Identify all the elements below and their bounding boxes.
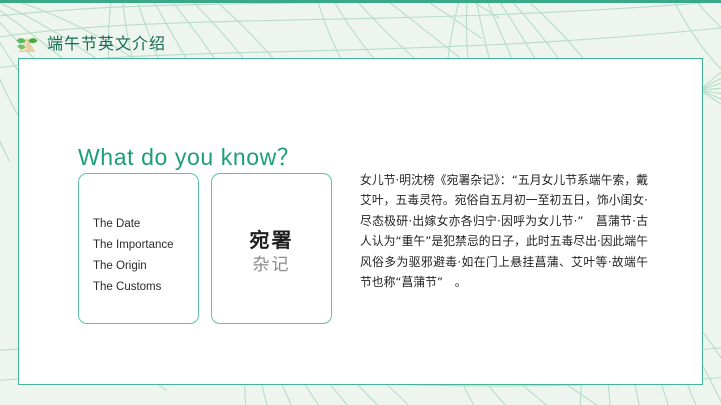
page-title: What do you know？ <box>78 138 300 172</box>
book-subtitle: 杂记 <box>212 253 331 277</box>
list-item: The Date <box>93 214 190 235</box>
list-item: The Importance <box>93 235 190 256</box>
top-accent-rule <box>0 0 721 3</box>
list-item: The Customs <box>93 277 190 298</box>
header: 端午节英文介绍 <box>14 31 166 57</box>
zongzi-icon <box>14 33 40 55</box>
list-item: The Origin <box>93 256 190 277</box>
book-title: 宛署 <box>212 228 331 253</box>
slide-root: 端午节英文介绍 What do you know？ The Date The I… <box>0 0 721 405</box>
body-paragraph: 女儿节·明沈榜《宛署杂记》：“五月女儿节系端午索，戴艾叶，五毒灵符。宛俗自五月初… <box>360 170 648 292</box>
header-title: 端午节英文介绍 <box>47 36 166 52</box>
topics-list: The Date The Importance The Origin The C… <box>93 214 190 298</box>
topics-card: The Date The Importance The Origin The C… <box>78 173 199 324</box>
book-card: 宛署 杂记 <box>211 173 332 324</box>
book-label: 宛署 杂记 <box>212 228 331 277</box>
